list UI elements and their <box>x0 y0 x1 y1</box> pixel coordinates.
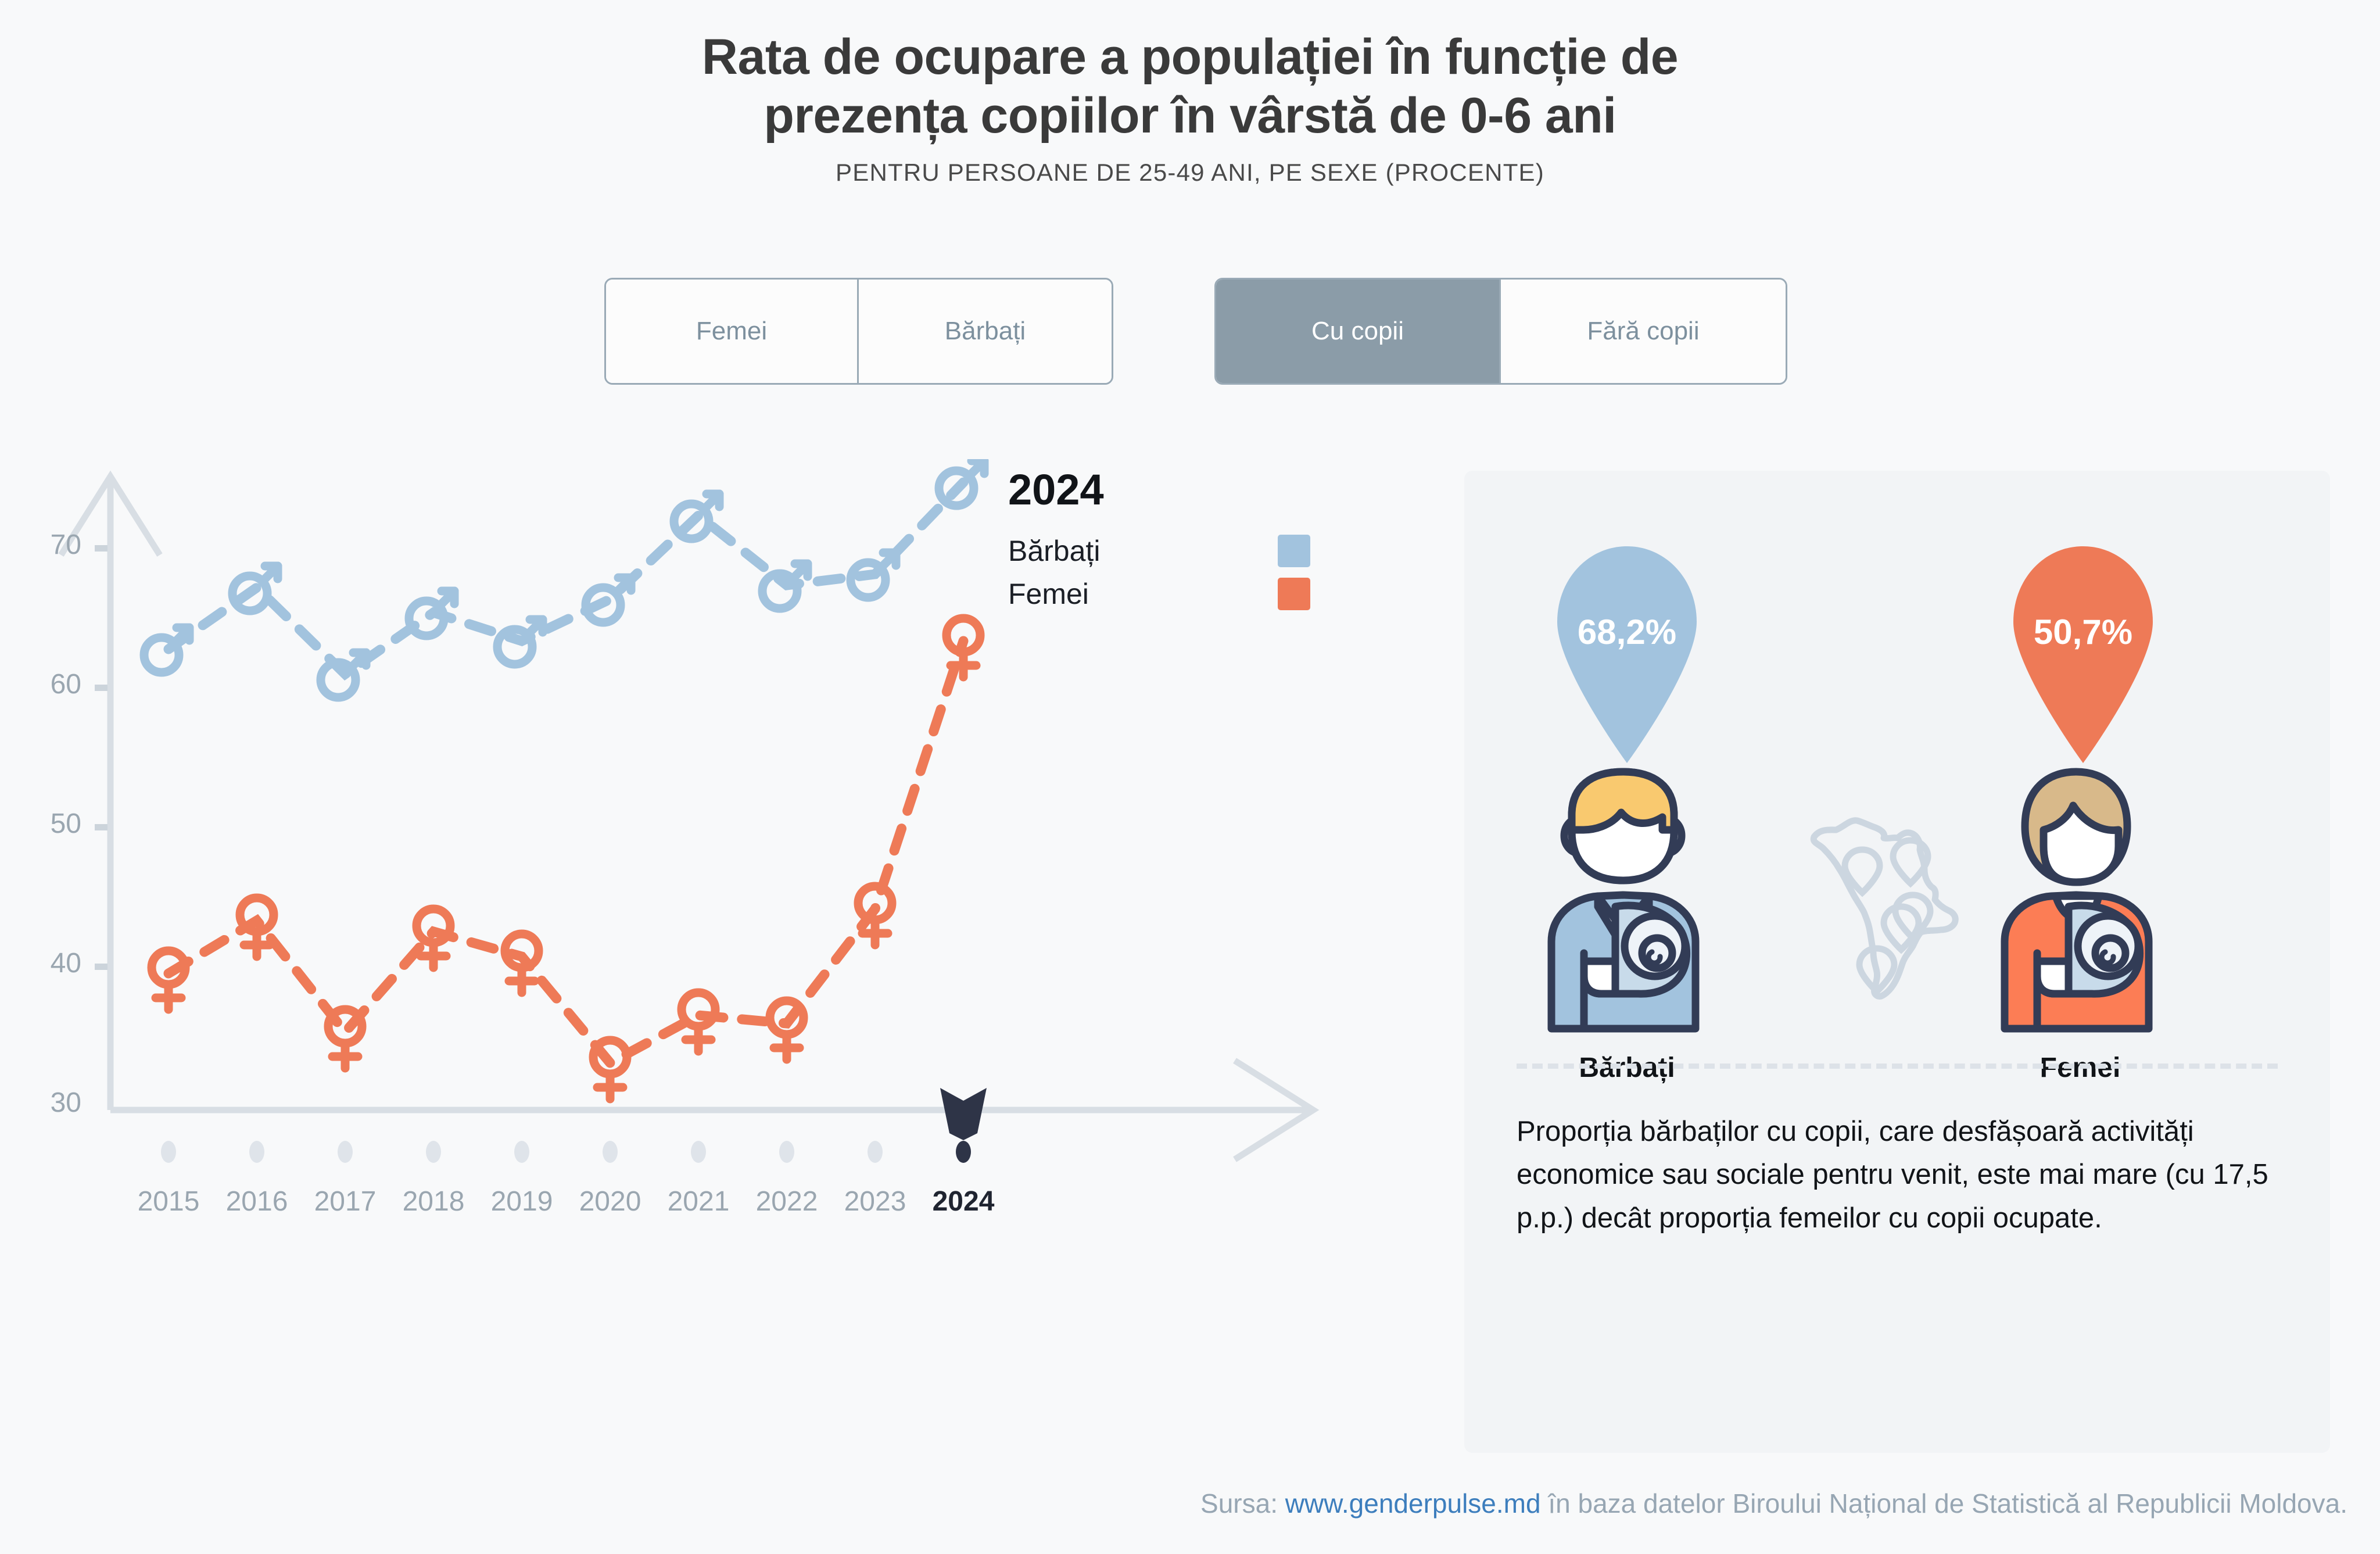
x-tick-2024[interactable]: 2024 <box>914 1186 1013 1218</box>
x-tick-2019[interactable]: 2019 <box>472 1186 571 1218</box>
x-tick-2017[interactable]: 2017 <box>296 1186 395 1218</box>
pin-value-barbati: 68,2% <box>1549 612 1705 652</box>
page-title-line1: Rata de ocupare a populației în funcție … <box>0 28 2380 87</box>
x-tick-2021[interactable]: 2021 <box>649 1186 748 1218</box>
x-tick-2016[interactable]: 2016 <box>207 1186 306 1218</box>
legend-item-femei[interactable]: Femei <box>1008 577 1310 611</box>
pin-barbati: 68,2% <box>1549 543 1705 764</box>
page-title-line2: prezența copiilor în vârstă de 0-6 ani <box>0 87 2380 145</box>
legend-swatch-barbati <box>1278 535 1310 567</box>
x-tick-2015[interactable]: 2015 <box>119 1186 218 1218</box>
summary-panel: 68,2% <box>1464 471 2330 1453</box>
y-axis <box>61 477 160 1110</box>
map-pin-icon-orange <box>2005 543 2162 764</box>
source-suffix: în baza datelor Biroului Național de Sta… <box>1541 1488 2347 1519</box>
series-line-femei <box>169 641 963 1063</box>
y-tick-60: 60 <box>17 668 81 700</box>
legend-label-femei: Femei <box>1008 577 1089 611</box>
source-footer: Sursa: www.genderpulse.md în baza datelo… <box>0 1488 2380 1519</box>
x-axis <box>110 1061 1313 1159</box>
panel-note: Proporția bărbaților cu copii, care desf… <box>1517 1110 2289 1240</box>
x-tick-2018[interactable]: 2018 <box>384 1186 483 1218</box>
moldova-map-outline-icon <box>1801 796 1993 1000</box>
map-pin-icon-blue <box>1549 543 1705 764</box>
chart-legend: 2024 Bărbați Femei <box>1008 465 1368 620</box>
y-tick-70: 70 <box>17 529 81 561</box>
pin-value-femei: 50,7% <box>2005 612 2162 652</box>
x-tick-2020[interactable]: 2020 <box>561 1186 659 1218</box>
series-markers-femei[interactable] <box>152 618 980 1099</box>
legend-swatch-femei <box>1278 578 1310 610</box>
source-prefix: Sursa: <box>1200 1488 1285 1519</box>
figure-man-with-baby <box>1528 761 1726 1034</box>
pin-femei: 50,7% <box>2005 543 2162 764</box>
panel-divider <box>1517 1064 2278 1069</box>
series-line-barbati <box>169 482 963 674</box>
infographic-page: Rata de ocupare a populației în funcție … <box>0 0 2380 1554</box>
y-tick-40: 40 <box>17 947 81 979</box>
x-axis-category-dots[interactable] <box>161 1141 971 1163</box>
page-header: Rata de ocupare a populației în funcție … <box>0 0 2380 187</box>
x-tick-2022[interactable]: 2022 <box>737 1186 836 1218</box>
page-subtitle: PENTRU PERSOANE DE 25-49 ANI, PE SEXE (P… <box>0 159 2380 187</box>
toggle-fara-copii[interactable]: Fără copii <box>1501 280 1786 383</box>
legend-item-barbati[interactable]: Bărbați <box>1008 534 1310 568</box>
toggle-barbati[interactable]: Bărbați <box>859 280 1112 383</box>
children-toggle-group[interactable]: Cu copii Fără copii <box>1214 278 1787 385</box>
page-title: Rata de ocupare a populației în funcție … <box>0 28 2380 146</box>
toggle-cu-copii[interactable]: Cu copii <box>1216 280 1501 383</box>
figure-woman-with-baby <box>1981 761 2179 1034</box>
y-tick-30: 30 <box>17 1087 81 1119</box>
legend-label-barbati: Bărbați <box>1008 534 1100 568</box>
toggle-femei[interactable]: Femei <box>606 280 859 383</box>
y-tick-50: 50 <box>17 808 81 840</box>
gender-toggle-group[interactable]: Femei Bărbați <box>604 278 1113 385</box>
y-axis-ticks <box>95 545 107 970</box>
source-link[interactable]: www.genderpulse.md <box>1285 1488 1541 1519</box>
x-tick-2023[interactable]: 2023 <box>826 1186 924 1218</box>
legend-year: 2024 <box>1008 465 1368 514</box>
selected-year-chevron <box>940 1088 987 1140</box>
